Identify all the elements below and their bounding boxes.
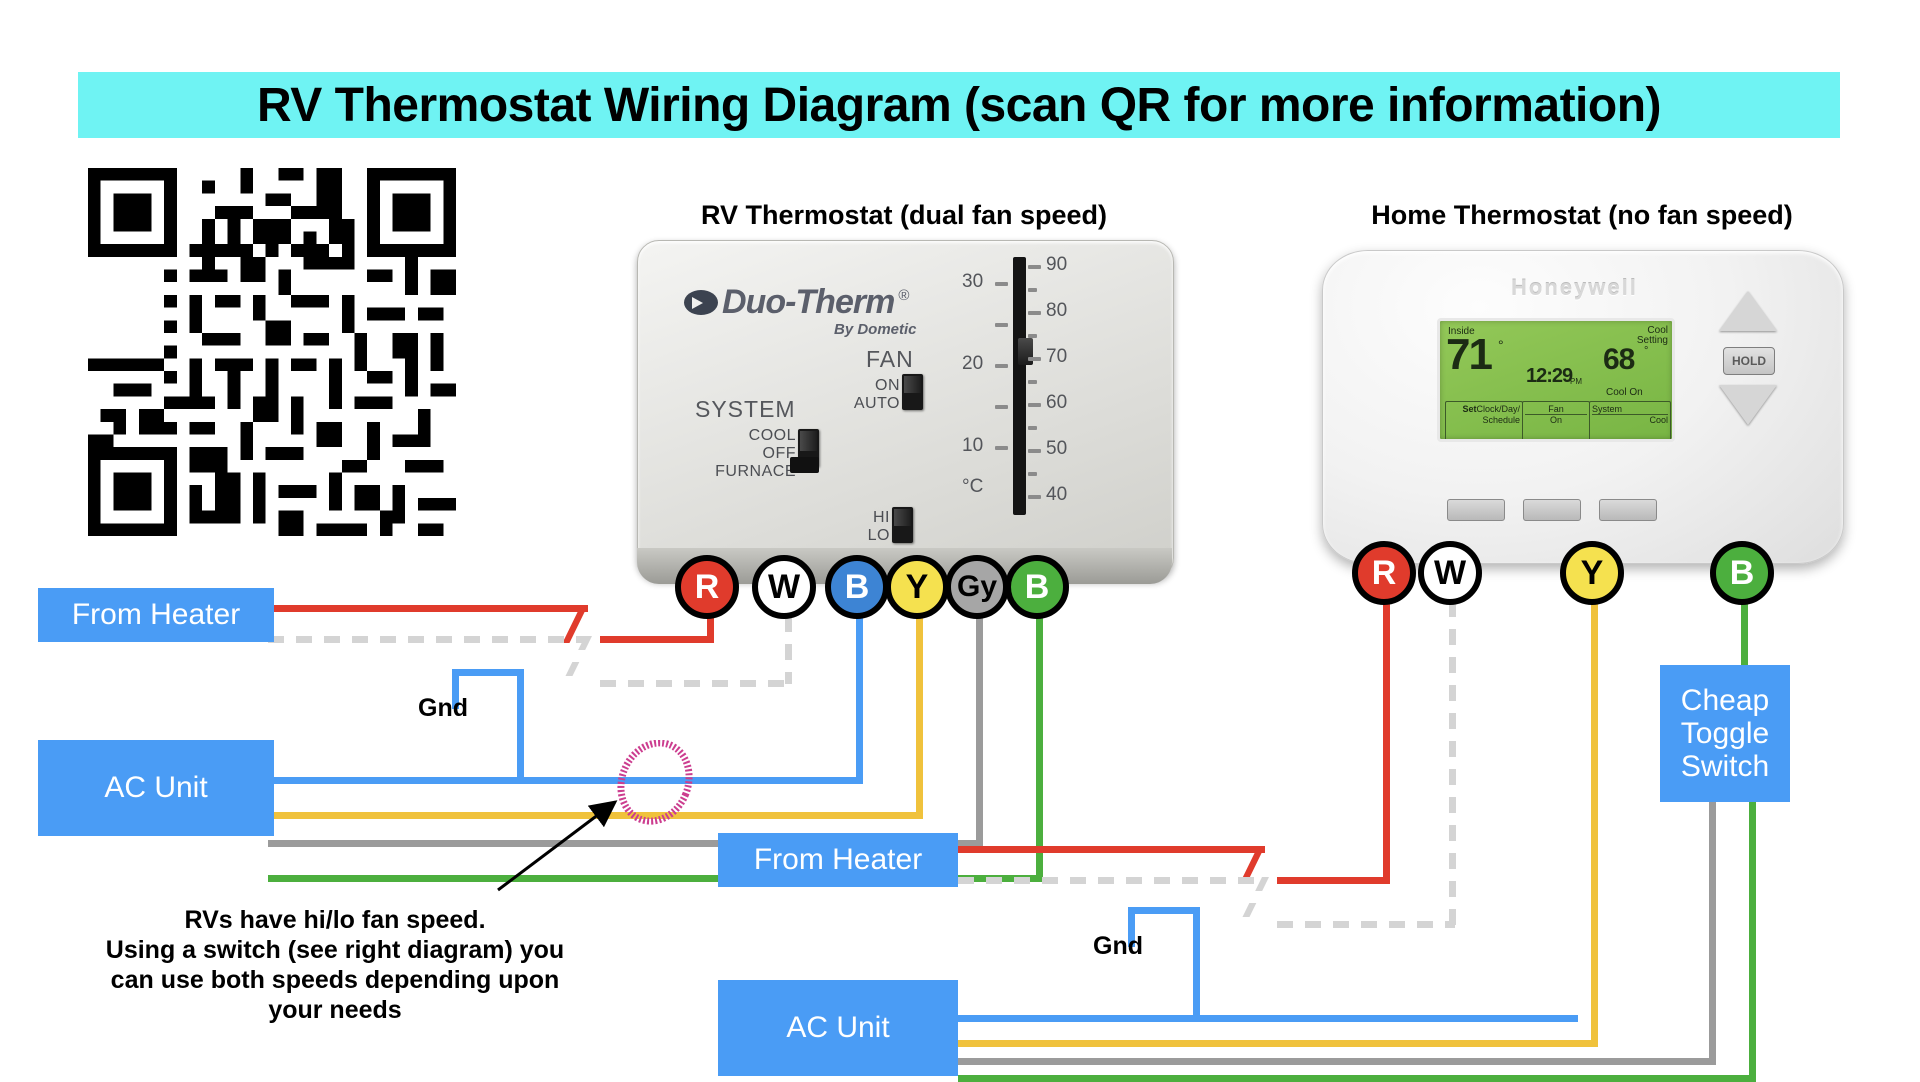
terminal-right-b-label: B [1730,556,1755,590]
terminal-left-y-label: Y [906,570,929,604]
wire-gray-right-horizontal [958,1058,1716,1065]
temp-tick-f-70: 70 [1046,346,1067,368]
wire-blue-gnd-down-right [1193,907,1200,1022]
switch-box-line-1: Cheap [1681,684,1769,717]
temp-tick-f-60: 60 [1046,392,1067,414]
temp-tick-c-30: 30 [962,271,983,293]
terminal-left-gy-label: Gy [957,572,997,602]
left-diagram-annotation: RVs have hi/lo fan speed. Using a switch… [30,905,640,1025]
hw-button-right[interactable] [1599,499,1657,521]
terminal-left-gy[interactable]: Gy [945,555,1009,619]
lcd-fan-value: On [1525,415,1587,425]
lcd-inside-degree-icon: ° [1498,337,1504,353]
gnd-label-right: Gnd [1093,932,1143,961]
thermometer-column [1013,257,1026,515]
box-cheap-toggle-switch: Cheap Toggle Switch [1660,665,1790,802]
terminal-right-w-label: W [1434,556,1466,590]
lcd-inside-temp: 71 [1446,335,1491,375]
terminal-left-b-blue-label: B [845,570,870,604]
rv-thermostat-device: Duo-Therm ® By Dometic SYSTEM COOL OFF F… [637,240,1174,580]
wire-red-left-seg2 [600,636,714,643]
lcd-button-system[interactable]: System Cool [1589,401,1671,441]
box-from-heater-right-label: From Heater [754,843,922,877]
system-toggle-lever[interactable] [790,457,819,473]
wire-white-left-seg2 [600,680,792,687]
annotation-line-4: your needs [30,995,640,1025]
wire-yellow-right-to-terminal-y [1591,545,1598,1045]
wire-blue-right-horizontal [958,1015,1578,1022]
fan-toggle-switch[interactable] [902,374,923,410]
lcd-setting-degree-icon: ° [1644,345,1648,357]
wire-white-right-seg2 [1277,921,1455,928]
system-option-cool: COOL [664,427,796,445]
wire-red-right-seg1 [958,846,1265,853]
lcd-time-meridiem: PM [1570,377,1582,386]
wire-red-right-seg2 [1277,877,1390,884]
qr-code-svg [88,168,456,536]
page-title: RV Thermostat Wiring Diagram (scan QR fo… [78,74,1840,140]
lcd-setting-temp: 68 [1603,343,1634,377]
wire-blue-gnd-top [452,669,524,676]
terminal-right-r-label: R [1372,556,1397,590]
box-ac-unit-right-label: AC Unit [786,1011,889,1045]
wire-blue-left-horizontal [268,777,863,784]
lcd-clock-bold: Set [1462,404,1476,414]
rv-thermostat-heading: RV Thermostat (dual fan speed) [639,200,1169,231]
terminal-right-w[interactable]: W [1418,541,1482,605]
terminal-right-y-label: Y [1581,556,1604,590]
honeywell-lcd-display: Inside 71 ° 12:29 PM Cool Setting 68 ° C… [1437,318,1675,442]
wire-white-right-seg1 [958,877,1265,884]
registered-trademark-icon: ® [898,287,909,304]
temp-tick-c-10: 10 [962,435,983,457]
terminal-left-y[interactable]: Y [885,555,949,619]
wire-yellow-right-horizontal [958,1040,1598,1047]
box-from-heater-left: From Heater [38,588,274,642]
terminal-right-y[interactable]: Y [1560,541,1624,605]
box-from-heater-right: From Heater [718,833,958,887]
qr-code[interactable] [88,168,456,536]
fan-speed-toggle-switch[interactable] [892,507,913,543]
lcd-button-clock[interactable]: SetClock/Day/ Schedule [1445,401,1523,441]
fan-speed-hi: HI [812,509,890,527]
wire-blue-gnd-top-right [1128,907,1200,914]
fan-option-on: ON [800,377,900,395]
terminal-left-b-blue[interactable]: B [825,555,889,619]
lcd-fan-title: Fan [1525,404,1587,415]
celsius-unit-label: °C [962,476,983,498]
box-ac-unit-left: AC Unit [38,740,274,836]
fan-option-auto: AUTO [800,395,900,413]
home-thermostat-heading: Home Thermostat (no fan speed) [1322,200,1842,231]
wire-white-left-seg1 [268,636,588,643]
terminal-left-b-green-label: B [1025,570,1050,604]
duo-therm-oval-icon [684,290,718,315]
annotation-line-1: RVs have hi/lo fan speed. [30,905,640,935]
annotation-arrow-icon [490,790,650,900]
temp-tick-f-80: 80 [1046,300,1067,322]
system-option-furnace: FURNACE [664,463,796,481]
box-ac-unit-left-label: AC Unit [104,771,207,805]
terminal-left-w-label: W [768,570,800,604]
switch-box-line-2: Toggle [1681,717,1769,750]
terminal-right-b[interactable]: B [1710,541,1774,605]
lcd-time: 12:29 [1526,365,1572,388]
honeywell-brand: Honeywell [1511,275,1638,301]
hw-button-left[interactable] [1447,499,1505,521]
lcd-button-fan[interactable]: Fan On [1522,401,1590,441]
fan-label: FAN [866,346,914,373]
box-from-heater-left-label: From Heater [72,598,240,632]
wire-blue-gnd-down [517,669,524,784]
lcd-system-title: System [1592,404,1668,415]
duo-therm-brand: Duo-Therm [722,283,894,322]
system-option-off: OFF [664,445,796,463]
annotation-line-2: Using a switch (see right diagram) you [30,935,640,965]
temp-tick-c-20: 20 [962,353,983,375]
switch-box-line-3: Switch [1681,750,1769,783]
temp-tick-f-90: 90 [1046,254,1067,276]
fan-speed-lo: LO [812,527,890,545]
temp-tick-f-50: 50 [1046,438,1067,460]
temp-tick-f-40: 40 [1046,484,1067,506]
wire-red-left-seg1 [268,605,588,612]
hold-button[interactable]: HOLD [1723,347,1775,375]
lcd-system-value: Cool [1592,415,1668,425]
wire-green-right-horizontal [958,1075,1756,1082]
box-ac-unit-right: AC Unit [718,980,958,1076]
system-label: SYSTEM [695,396,796,423]
terminal-left-r[interactable]: R [675,555,739,619]
down-arrow-icon[interactable] [1719,385,1777,425]
terminal-left-w[interactable]: W [752,555,816,619]
terminal-right-r[interactable]: R [1352,541,1416,605]
lcd-clock-rest: Clock/Day/ [1476,404,1520,414]
hw-button-center[interactable] [1523,499,1581,521]
up-arrow-icon[interactable] [1719,291,1777,331]
terminal-left-b-green[interactable]: B [1005,555,1069,619]
gnd-label-left: Gnd [418,694,468,723]
annotation-line-3: can use both speeds depending upon [30,965,640,995]
lcd-clock-line2: Schedule [1448,415,1520,426]
lcd-status: Cool On [1606,387,1643,398]
duo-therm-logo: Duo-Therm ® [684,283,909,322]
terminal-left-r-label: R [695,570,720,604]
duo-therm-subbrand: By Dometic [834,321,917,338]
